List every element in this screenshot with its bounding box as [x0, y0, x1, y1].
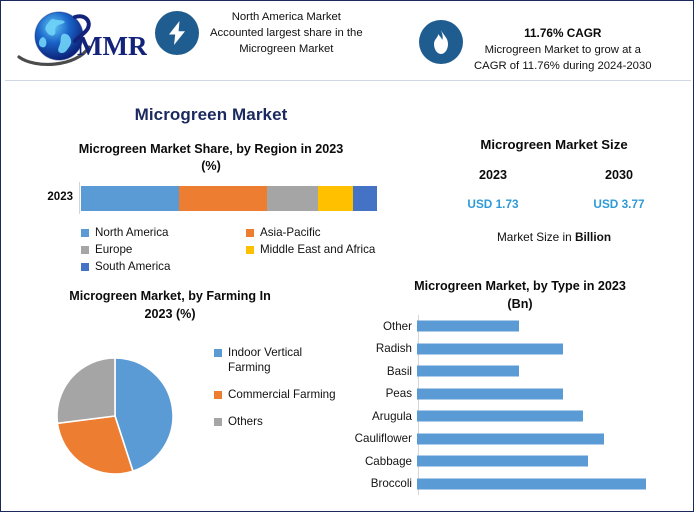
region-legend-label: Middle East and Africa [260, 243, 375, 256]
page-title: Microgreen Market [1, 105, 421, 125]
type-category-label: Other [351, 320, 416, 333]
type-bar [417, 478, 646, 489]
legend-swatch-icon [214, 391, 222, 399]
mmr-logo: MMR [15, 7, 147, 71]
type-bar-track [416, 428, 689, 451]
region-bar-segment-3 [318, 186, 354, 211]
legend-swatch-icon [214, 418, 222, 426]
market-size-footnote: Market Size in Billion [419, 230, 689, 244]
type-chart-title: Microgreen Market, by Type in 2023 (Bn) [351, 277, 689, 313]
legend-swatch-icon [81, 263, 89, 271]
legend-swatch-icon [246, 246, 254, 254]
logo-wordmark: MMR [77, 31, 147, 61]
region-share-chart: Microgreen Market Share, by Region in 20… [9, 141, 413, 281]
region-category-label: 2023 [19, 191, 73, 203]
pie-legend-label: Commercial Farming [228, 387, 336, 402]
pie-chart [54, 355, 176, 477]
header-bar: MMR North America Market Accounted large… [1, 1, 693, 81]
type-bar [417, 366, 519, 377]
region-bar-segment-2 [267, 186, 317, 211]
pie-chart-title: Microgreen Market, by Farming In 2023 (%… [25, 287, 315, 323]
type-category-label: Cauliflower [351, 432, 416, 445]
pie-legend: Indoor Vertical FarmingCommercial Farmin… [214, 345, 344, 441]
market-size-panel: Microgreen Market Size 2023 2030 USD 1.7… [419, 131, 689, 271]
type-category-label: Broccoli [351, 477, 416, 490]
header-divider [5, 80, 691, 81]
region-legend-item: Middle East and Africa [246, 241, 411, 258]
legend-swatch-icon [81, 246, 89, 254]
type-bar [417, 456, 588, 467]
type-bar-track [416, 383, 689, 406]
cagr-body: Microgreen Market to grow at a CAGR of 1… [474, 44, 652, 72]
type-bar-row: Peas [351, 383, 689, 406]
region-legend: North AmericaAsia-PacificEuropeMiddle Ea… [81, 224, 411, 275]
region-bar-segment-4 [353, 186, 377, 211]
pie-legend-label: Others [228, 414, 263, 429]
market-size-title: Microgreen Market Size [419, 137, 689, 152]
type-bar-chart: Microgreen Market, by Type in 2023 (Bn) … [351, 277, 691, 507]
legend-swatch-icon [246, 229, 254, 237]
pie-legend-item: Others [214, 414, 344, 429]
region-legend-label: Europe [95, 243, 132, 256]
header-highlight-region-text: North America Market Accounted largest s… [210, 9, 363, 57]
type-bar-row: Cabbage [351, 450, 689, 473]
region-bar-segment-1 [179, 186, 268, 211]
header-highlight-region: North America Market Accounted largest s… [155, 9, 405, 57]
region-stacked-bar [81, 186, 377, 211]
type-bar-track [416, 338, 689, 361]
region-plot-area [79, 182, 377, 214]
type-category-label: Radish [351, 342, 416, 355]
region-legend-item: North America [81, 224, 246, 241]
type-category-label: Arugula [351, 410, 416, 423]
type-bar-row: Cauliflower [351, 428, 689, 451]
region-legend-item: South America [81, 258, 411, 275]
type-bar-row: Arugula [351, 405, 689, 428]
region-legend-item: Europe [81, 241, 246, 258]
type-bar-row: Basil [351, 360, 689, 383]
market-size-value-2030: USD 3.77 [569, 197, 669, 211]
region-legend-label: South America [95, 260, 170, 273]
legend-swatch-icon [214, 349, 222, 357]
farming-share-chart: Microgreen Market, by Farming In 2023 (%… [9, 287, 349, 509]
infographic-root: MMR North America Market Accounted large… [0, 0, 694, 512]
market-size-footnote-unit: Billion [575, 230, 611, 244]
market-size-value-2023: USD 1.73 [443, 197, 543, 211]
legend-swatch-icon [81, 229, 89, 237]
type-category-label: Basil [351, 365, 416, 378]
header-highlight-cagr: 11.76% CAGR Microgreen Market to grow at… [419, 9, 687, 74]
type-bar-track [416, 360, 689, 383]
type-bar [417, 321, 519, 332]
type-bar-track [416, 473, 689, 496]
region-chart-title: Microgreen Market Share, by Region in 20… [9, 141, 413, 175]
type-bar-row: Broccoli [351, 473, 689, 496]
type-bar [417, 343, 563, 354]
type-bar-row: Other [351, 315, 689, 338]
type-bar [417, 411, 583, 422]
region-bar-segment-0 [81, 186, 179, 211]
type-bar-track [416, 405, 689, 428]
pie-legend-item: Commercial Farming [214, 387, 344, 402]
market-size-year-2030: 2030 [569, 168, 669, 182]
header-highlight-cagr-text: 11.76% CAGR Microgreen Market to grow at… [474, 9, 652, 74]
pie-legend-item: Indoor Vertical Farming [214, 345, 344, 375]
type-bar-track [416, 315, 689, 338]
type-bar-row: Radish [351, 338, 689, 361]
region-legend-label: Asia-Pacific [260, 226, 321, 239]
flame-icon [419, 20, 463, 64]
pie-slice-2 [57, 358, 115, 423]
type-bar [417, 388, 563, 399]
pie-legend-label: Indoor Vertical Farming [228, 345, 344, 375]
type-plot-area: OtherRadishBasilPeasArugulaCauliflowerCa… [351, 315, 689, 495]
lightning-bolt-icon [155, 11, 199, 55]
market-size-year-2023: 2023 [443, 168, 543, 182]
type-bar-track [416, 450, 689, 473]
type-category-label: Cabbage [351, 455, 416, 468]
market-size-footnote-prefix: Market Size in [497, 230, 575, 244]
type-bar [417, 433, 604, 444]
region-legend-label: North America [95, 226, 168, 239]
type-category-label: Peas [351, 387, 416, 400]
cagr-heading: 11.76% CAGR [524, 26, 601, 40]
region-legend-item: Asia-Pacific [246, 224, 411, 241]
